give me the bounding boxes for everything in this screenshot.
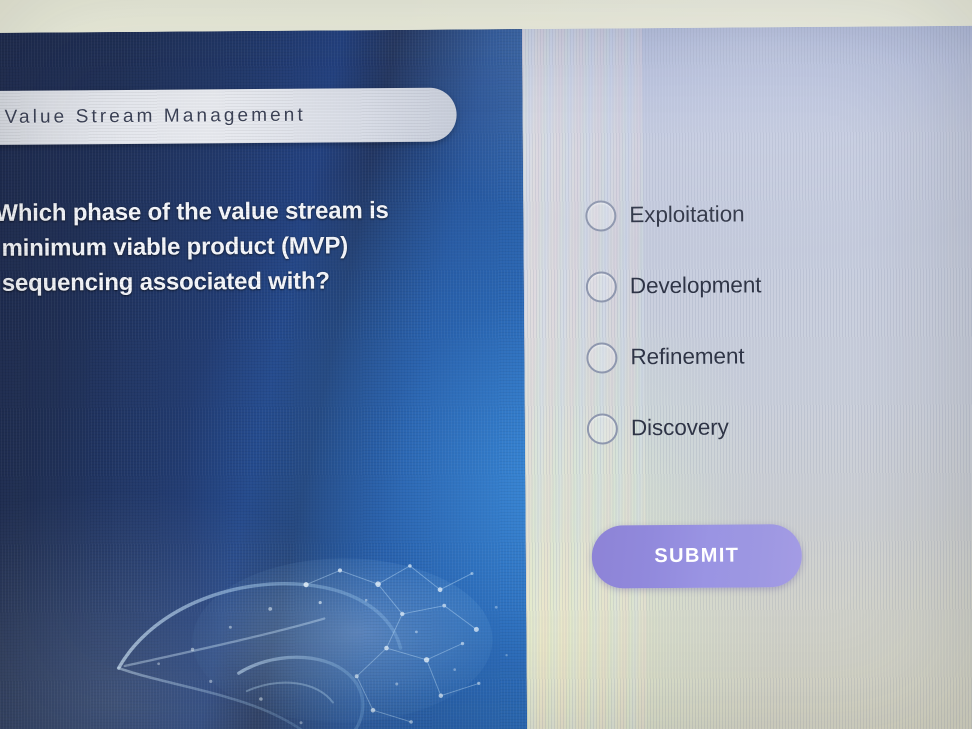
question-panel: Value Stream Management Which phase of t… xyxy=(0,29,527,729)
answer-option-development[interactable]: Development xyxy=(586,268,762,303)
particle-swoosh-graphic xyxy=(110,543,527,729)
answer-option-label: Development xyxy=(630,272,762,299)
answer-option-label: Exploitation xyxy=(629,201,744,228)
question-line-3: sequencing associated with? xyxy=(0,263,436,301)
radio-unchecked-icon[interactable] xyxy=(585,200,616,231)
page-title-banner: Value Stream Management xyxy=(0,88,457,146)
answer-options-list: Exploitation Development Refinement Disc… xyxy=(585,197,763,482)
answer-option-exploitation[interactable]: Exploitation xyxy=(585,197,761,232)
photographed-screen-frame: Value Stream Management Which phase of t… xyxy=(0,0,972,729)
radio-unchecked-icon[interactable] xyxy=(586,271,617,302)
submit-button[interactable]: SUBMIT xyxy=(592,524,802,589)
quiz-screen: Value Stream Management Which phase of t… xyxy=(0,26,972,729)
question-line-1: Which phase of the value stream is xyxy=(0,193,435,231)
radio-unchecked-icon[interactable] xyxy=(586,342,617,373)
answer-option-refinement[interactable]: Refinement xyxy=(586,339,762,374)
answers-panel: Exploitation Development Refinement Disc… xyxy=(522,26,972,729)
question-text: Which phase of the value stream is minim… xyxy=(0,193,436,301)
page-title: Value Stream Management xyxy=(5,105,306,129)
answer-option-label: Refinement xyxy=(630,343,744,370)
answer-option-discovery[interactable]: Discovery xyxy=(587,410,763,445)
answer-option-label: Discovery xyxy=(631,415,729,442)
question-line-2: minimum viable product (MVP) xyxy=(0,228,436,266)
radio-unchecked-icon[interactable] xyxy=(587,413,618,444)
